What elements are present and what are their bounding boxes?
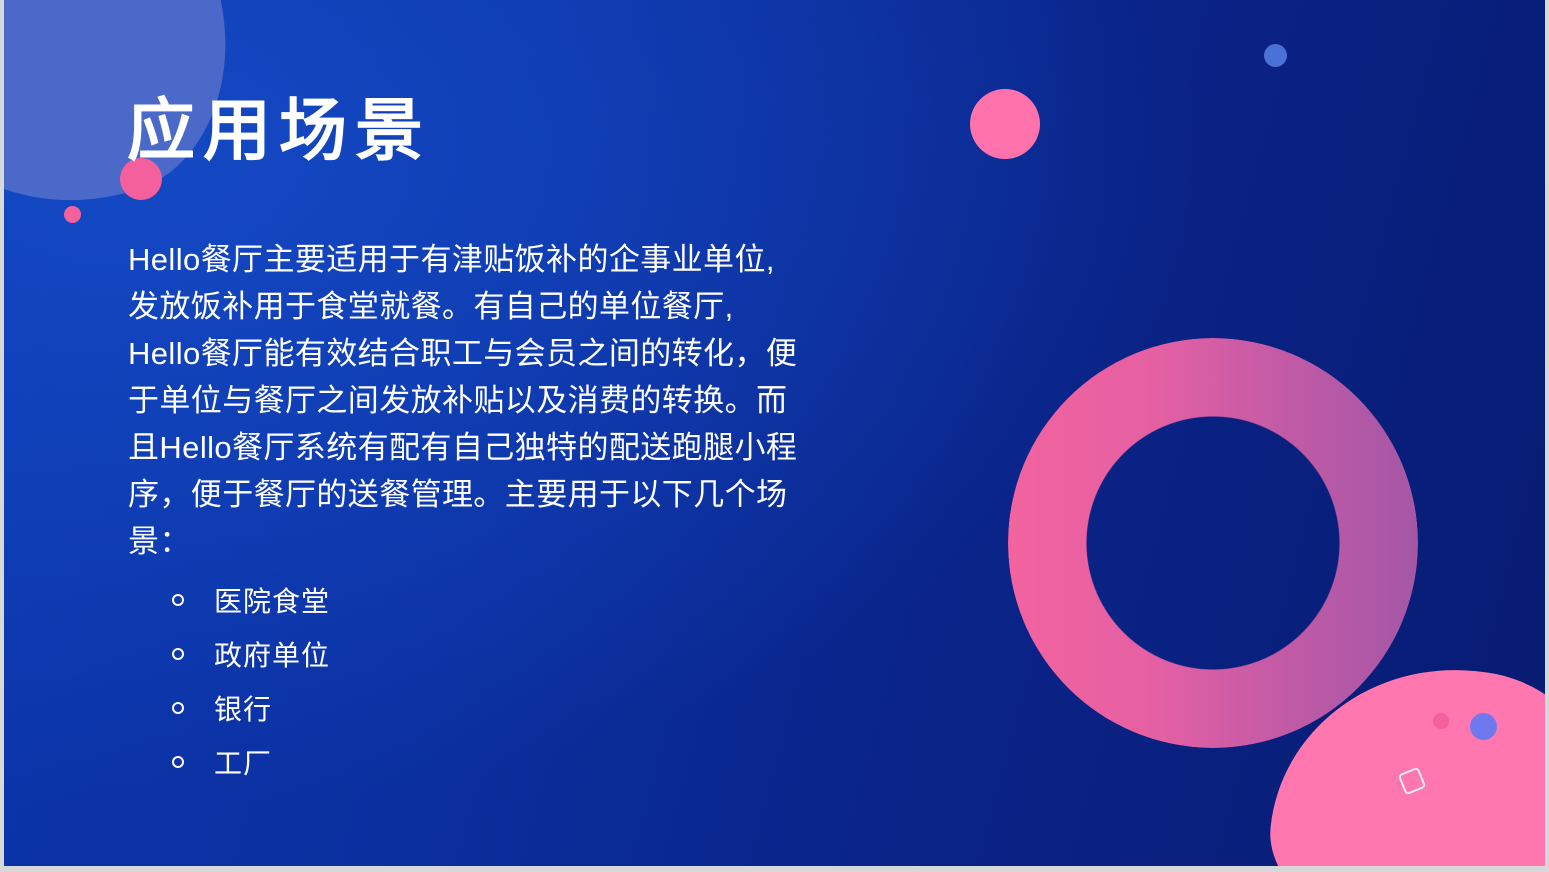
bullet-circle-icon bbox=[172, 702, 184, 714]
list-item: 医院食堂 bbox=[172, 573, 330, 627]
scenario-list: 医院食堂 政府单位 银行 工厂 bbox=[172, 573, 330, 789]
slide-title: 应用场景 bbox=[127, 97, 431, 165]
presentation-slide: 应用场景 Hello餐厅主要适用于有津贴饭补的企事业单位, 发放饭补用于食堂就餐… bbox=[4, 0, 1545, 866]
body-line: Hello餐厅能有效结合职工与会员之间的转化，便 bbox=[128, 330, 888, 377]
list-item-label: 政府单位 bbox=[214, 634, 330, 674]
list-item-label: 工厂 bbox=[214, 742, 272, 782]
bullet-circle-icon bbox=[172, 594, 184, 606]
body-line: 序，便于餐厅的送餐管理。主要用于以下几个场 bbox=[128, 471, 888, 518]
list-item-label: 医院食堂 bbox=[214, 580, 330, 620]
slide-body-text: Hello餐厅主要适用于有津贴饭补的企事业单位, 发放饭补用于食堂就餐。有自己的… bbox=[128, 236, 888, 565]
list-item: 工厂 bbox=[172, 735, 330, 789]
list-item: 政府单位 bbox=[172, 627, 330, 681]
slide-frame-bottom-edge bbox=[0, 866, 1549, 872]
list-item-label: 银行 bbox=[214, 688, 272, 728]
body-line: 于单位与餐厅之间发放补贴以及消费的转换。而 bbox=[128, 377, 888, 424]
body-line: 景： bbox=[128, 518, 888, 565]
slide-content: 应用场景 Hello餐厅主要适用于有津贴饭补的企事业单位, 发放饭补用于食堂就餐… bbox=[4, 0, 1545, 866]
list-item: 银行 bbox=[172, 681, 330, 735]
body-line: 发放饭补用于食堂就餐。有自己的单位餐厅, bbox=[128, 283, 888, 330]
bullet-circle-icon bbox=[172, 756, 184, 768]
body-line: 且Hello餐厅系统有配有自己独特的配送跑腿小程 bbox=[128, 424, 888, 471]
bullet-circle-icon bbox=[172, 648, 184, 660]
body-line: Hello餐厅主要适用于有津贴饭补的企事业单位, bbox=[128, 236, 888, 283]
